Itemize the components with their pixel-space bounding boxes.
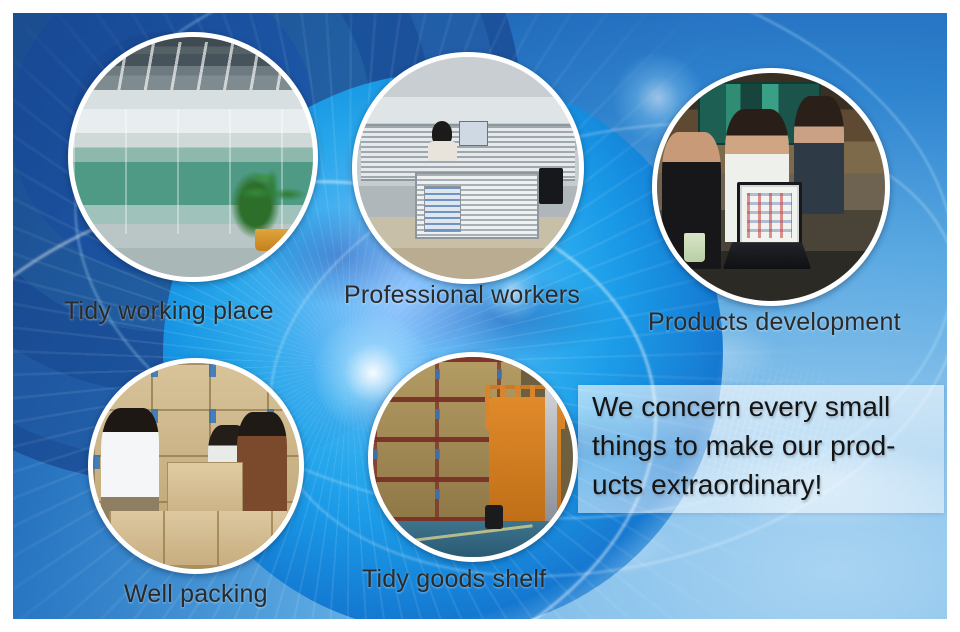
office-plant-pot bbox=[255, 229, 291, 251]
slogan-line-3: ucts extraordinary! bbox=[592, 469, 822, 501]
caption-well-packing: Well packing bbox=[124, 580, 268, 609]
slogan-line-2: things to make our prod- bbox=[592, 430, 896, 462]
development-photo-scene bbox=[657, 73, 885, 301]
desk-document-tray bbox=[424, 186, 462, 232]
professional-workers-photo bbox=[352, 52, 584, 284]
laptop-screen bbox=[737, 182, 802, 247]
company-capability-banner: Tidy working place Professional workers … bbox=[0, 0, 960, 632]
caption-tidy-goods-shelf: Tidy goods shelf bbox=[362, 565, 546, 594]
slogan-panel: We concern every small things to make ou… bbox=[578, 385, 944, 513]
front-carton-row bbox=[109, 511, 286, 565]
office-ceiling-lights bbox=[73, 42, 313, 90]
well-packing-photo bbox=[88, 358, 304, 574]
second-monitor bbox=[539, 168, 563, 204]
caption-tidy-working-place: Tidy working place bbox=[64, 297, 274, 326]
packing-worker-right bbox=[237, 412, 286, 519]
warehouse-photo-scene bbox=[373, 357, 573, 557]
laptop-keyboard bbox=[723, 243, 811, 270]
caption-products-development: Products development bbox=[648, 308, 901, 337]
paper-cup bbox=[684, 233, 705, 263]
tidy-goods-shelf-photo bbox=[368, 352, 578, 562]
packing-photo-scene bbox=[93, 363, 299, 569]
workers-photo-scene bbox=[357, 57, 579, 279]
office-photo-scene bbox=[73, 37, 313, 277]
carton-being-sealed bbox=[167, 462, 243, 518]
forklift-mast bbox=[545, 389, 557, 521]
tidy-working-place-photo bbox=[68, 32, 318, 282]
caption-professional-workers: Professional workers bbox=[344, 281, 580, 310]
worker-shirt bbox=[428, 141, 457, 161]
products-development-photo bbox=[652, 68, 890, 306]
worker-monitor bbox=[459, 121, 488, 145]
forklift-wheel bbox=[485, 505, 503, 529]
slogan-line-1: We concern every small bbox=[592, 391, 890, 423]
packing-worker-left bbox=[101, 408, 159, 527]
